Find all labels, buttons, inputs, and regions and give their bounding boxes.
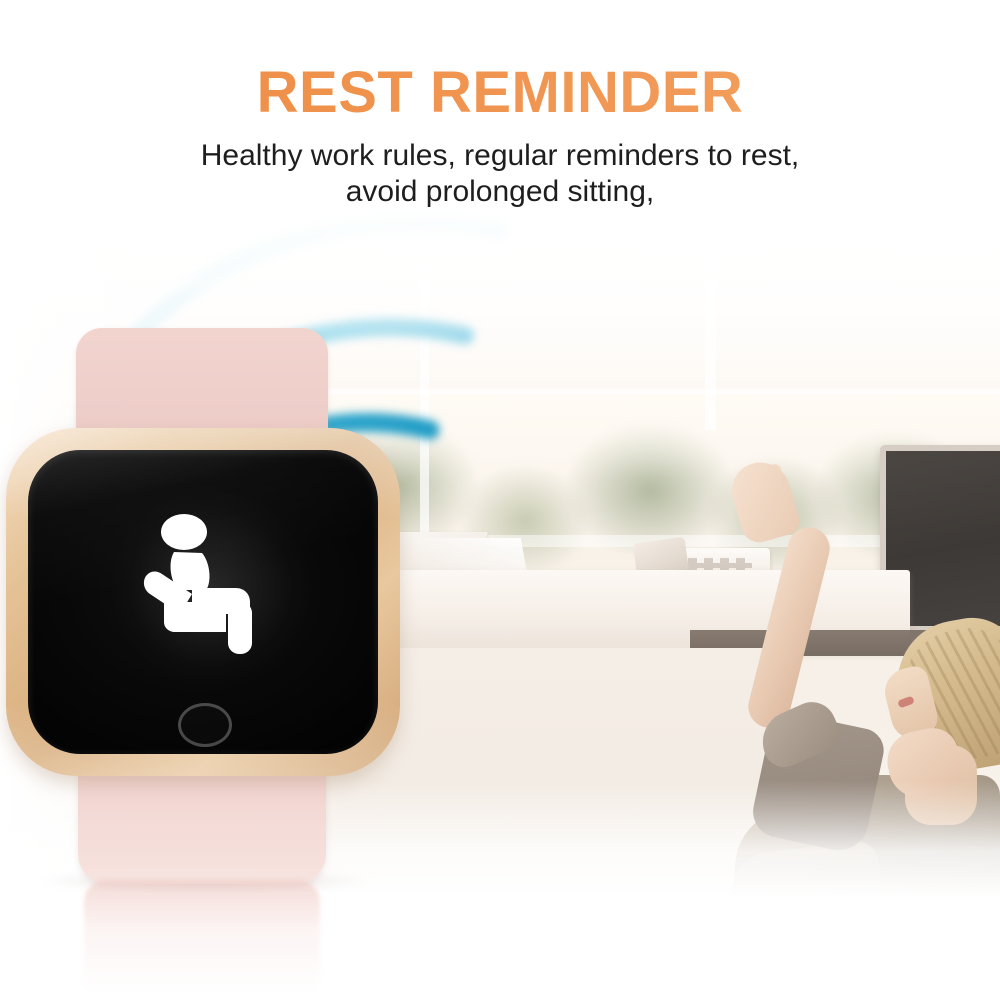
header-text-block: REST REMINDER Healthy work rules, regula… xyxy=(0,0,1000,210)
smartwatch-product xyxy=(0,300,430,920)
page-title: REST REMINDER xyxy=(0,0,1000,124)
subtitle-line-1: Healthy work rules, regular reminders to… xyxy=(0,138,1000,174)
subtitle-line-2: avoid prolonged sitting, xyxy=(0,174,1000,210)
page-subtitle: Healthy work rules, regular reminders to… xyxy=(0,124,1000,210)
promo-banner: REST REMINDER Healthy work rules, regula… xyxy=(0,0,1000,1000)
watch-strap-bottom xyxy=(78,762,326,884)
watch-home-button[interactable] xyxy=(178,703,232,747)
watch-strap-reflection xyxy=(84,880,320,992)
